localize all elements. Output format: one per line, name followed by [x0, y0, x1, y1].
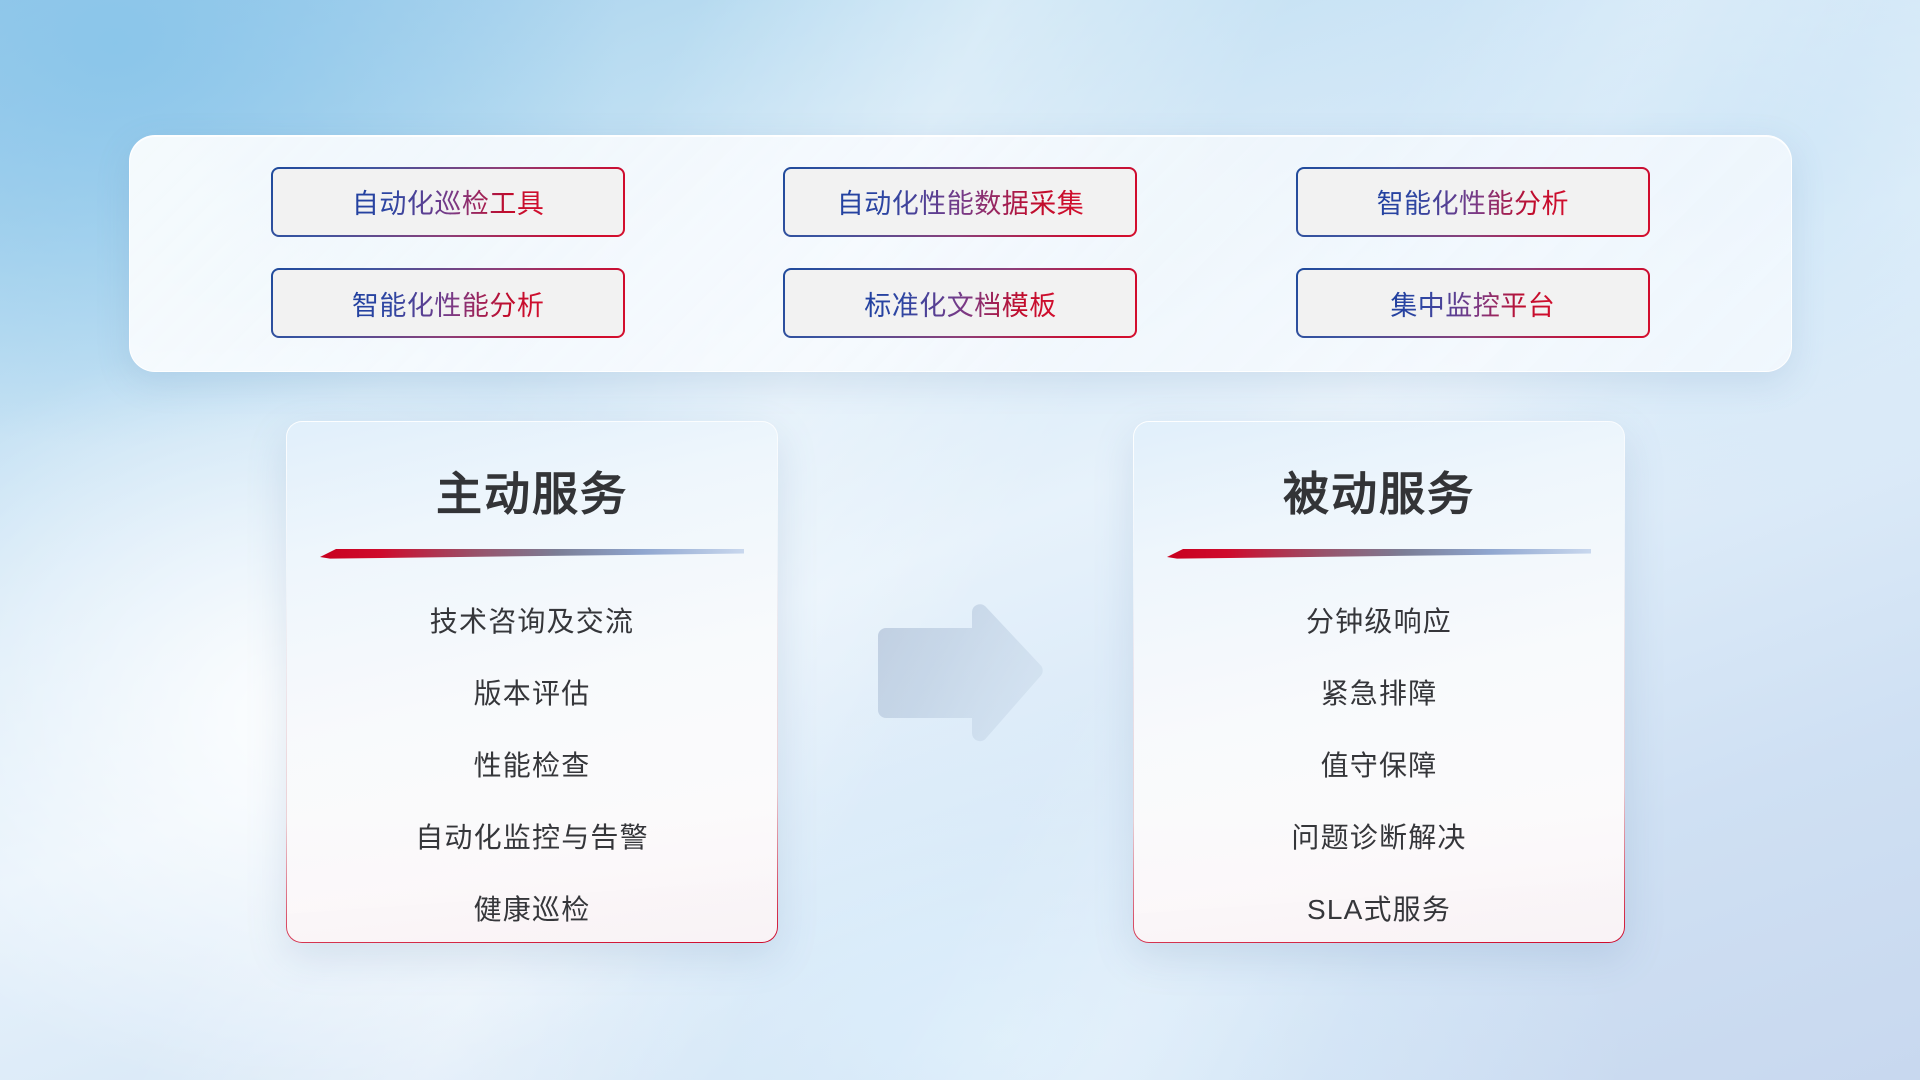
capability-pill-label: 自动化性能数据采集 — [837, 182, 1085, 221]
card-item: 版本评估 — [474, 658, 591, 730]
capability-pill-label: 智能化性能分析 — [1377, 182, 1570, 221]
capability-pill-label: 集中监控平台 — [1390, 284, 1555, 323]
capability-pill-3[interactable]: 智能化性能分析 — [1296, 167, 1650, 237]
card-item: SLA式服务 — [1307, 874, 1451, 943]
card-title: 被动服务 — [1134, 458, 1624, 524]
capability-pill-6[interactable]: 集中监控平台 — [1296, 268, 1650, 338]
arrow-right-icon — [872, 600, 1048, 746]
card-item: 性能检查 — [474, 730, 591, 802]
card-item: 紧急排障 — [1321, 658, 1438, 730]
card-item-list: 分钟级响应 紧急排障 值守保障 问题诊断解决 SLA式服务 — [1134, 586, 1624, 943]
card-item: 自动化监控与告警 — [415, 802, 649, 874]
card-item-list: 技术咨询及交流 版本评估 性能检查 自动化监控与告警 健康巡检 — [287, 586, 777, 943]
capability-pill-2[interactable]: 自动化性能数据采集 — [783, 167, 1137, 237]
capability-pill-5[interactable]: 标准化文档模板 — [783, 268, 1137, 338]
capability-tags-panel: 自动化巡检工具 自动化性能数据采集 智能化性能分析 智能化性能分析 标准化文档模… — [129, 135, 1792, 372]
service-card-reactive: 被动服务 分钟级响应 紧急排障 值守保障 问题诊断解决 SLA式服务 — [1133, 421, 1625, 943]
card-item: 健康巡检 — [474, 874, 591, 943]
card-item: 技术咨询及交流 — [430, 586, 634, 658]
service-card-proactive: 主动服务 技术咨询及交流 版本评估 性能检查 自动化监控与告警 健康巡检 — [286, 421, 778, 943]
capability-pill-label: 标准化文档模板 — [864, 284, 1057, 323]
card-item: 值守保障 — [1321, 730, 1438, 802]
capability-pill-1[interactable]: 自动化巡检工具 — [271, 167, 625, 237]
card-item: 问题诊断解决 — [1291, 802, 1466, 874]
card-title: 主动服务 — [287, 458, 777, 524]
capability-pill-label: 智能化性能分析 — [352, 284, 545, 323]
card-item: 分钟级响应 — [1306, 586, 1452, 658]
capability-pill-4[interactable]: 智能化性能分析 — [271, 268, 625, 338]
card-divider-icon — [320, 546, 744, 560]
card-divider-icon — [1167, 546, 1591, 560]
capability-pill-label: 自动化巡检工具 — [352, 182, 545, 221]
diagram-canvas: 自动化巡检工具 自动化性能数据采集 智能化性能分析 智能化性能分析 标准化文档模… — [0, 0, 1920, 1080]
